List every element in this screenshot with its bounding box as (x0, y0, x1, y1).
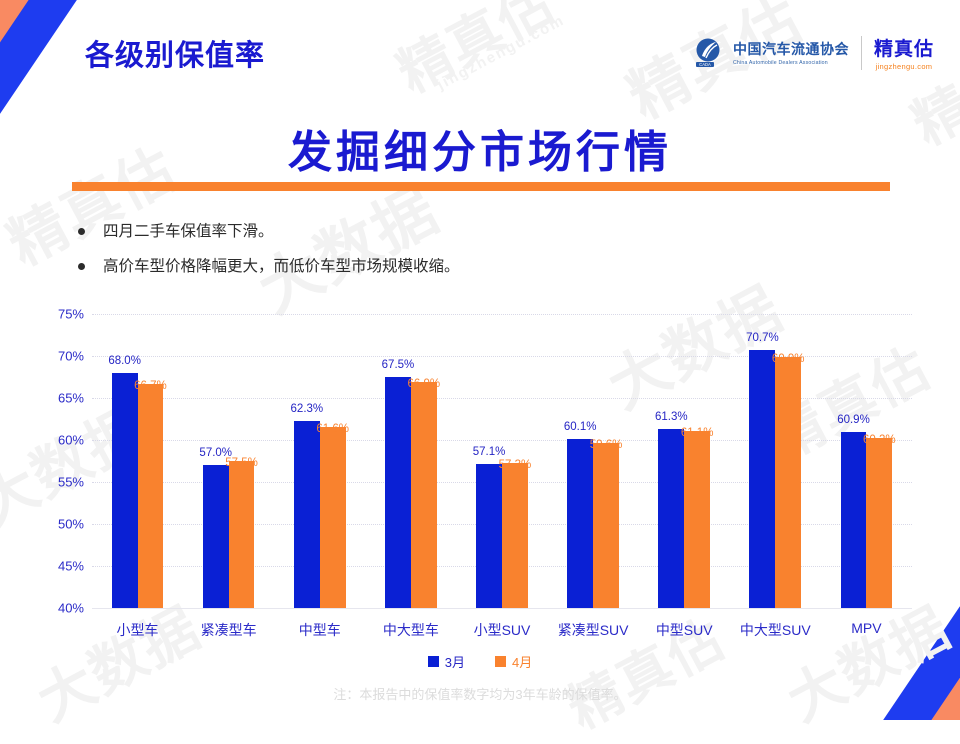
watermark: 精真估 (381, 0, 566, 108)
y-axis-tick-label: 60% (58, 433, 84, 448)
legend-item-4yue[interactable]: 4月 (495, 652, 532, 671)
bar-4月[interactable] (411, 382, 437, 608)
logo-area: CADA 中国汽车流通协会 China Automobile Dealers A… (693, 34, 934, 71)
x-axis-tick-label: 紧凑型SUV (548, 620, 639, 640)
bar-group: 61.3%61.1%中型SUV (639, 314, 730, 608)
bar-4月[interactable] (320, 427, 346, 608)
watermark: jingzhengu.com (434, 12, 568, 94)
bar-value-label: 57.3% (499, 459, 532, 471)
y-axis-tick-label: 55% (58, 475, 84, 490)
title-divider (72, 182, 890, 191)
bar-value-label: 61.3% (655, 411, 688, 423)
section-title: 发掘细分市场行情 (0, 116, 960, 180)
bar-3月[interactable] (385, 377, 411, 608)
bar-group: 60.9%60.2%MPV (821, 314, 912, 608)
legend-label: 3月 (445, 652, 465, 671)
x-axis-tick-label: 小型SUV (456, 620, 547, 640)
bar-value-label: 66.7% (134, 380, 167, 392)
y-axis-tick-label: 65% (58, 391, 84, 406)
bullet-list: 四月二手车保值率下滑。 高价车型价格降幅更大，而低价车型市场规模收缩。 (78, 220, 460, 291)
x-axis-tick-label: 中大型SUV (730, 620, 821, 640)
bar-value-label: 68.0% (108, 355, 141, 367)
legend-swatch-icon (495, 656, 506, 667)
bar-value-label: 61.6% (316, 423, 349, 435)
y-axis-tick-label: 50% (58, 517, 84, 532)
bar-value-label: 57.5% (225, 457, 258, 469)
chart-legend: 3月 4月 (0, 652, 960, 671)
bar-group: 60.1%59.6%紧凑型SUV (548, 314, 639, 608)
x-axis-tick-label: MPV (821, 620, 912, 636)
x-axis-tick-label: 中型车 (274, 620, 365, 640)
bar-4月[interactable] (138, 384, 164, 608)
list-item: 高价车型价格降幅更大，而低价车型市场规模收缩。 (78, 255, 460, 278)
bullet-dot-icon (78, 228, 85, 235)
bullet-dot-icon (78, 263, 85, 270)
bar-3月[interactable] (294, 421, 320, 608)
svg-text:CADA: CADA (699, 62, 711, 67)
bar-3月[interactable] (567, 439, 593, 608)
chart-plot-area: 40%45%50%55%60%65%70%75%68.0%66.7%小型车57.… (92, 314, 912, 608)
retention-rate-bar-chart: 40%45%50%55%60%65%70%75%68.0%66.7%小型车57.… (46, 306, 922, 646)
cada-logo: CADA 中国汽车流通协会 China Automobile Dealers A… (693, 37, 849, 69)
bar-value-label: 61.1% (681, 427, 714, 439)
y-axis-tick-label: 45% (58, 559, 84, 574)
page-title: 各级别保值率 (85, 32, 265, 74)
y-axis-tick-label: 75% (58, 307, 84, 322)
logo-divider (861, 36, 862, 70)
x-axis-tick-label: 中型SUV (639, 620, 730, 640)
cada-emblem-icon: CADA (693, 37, 727, 69)
bar-value-label: 66.9% (407, 378, 440, 390)
bar-value-label: 62.3% (291, 403, 324, 415)
bar-3月[interactable] (203, 465, 229, 608)
bar-value-label: 67.5% (382, 359, 415, 371)
bar-value-label: 69.9% (772, 353, 805, 365)
bullet-text: 高价车型价格降幅更大，而低价车型市场规模收缩。 (103, 255, 460, 278)
bar-4月[interactable] (593, 443, 619, 608)
cada-name-cn: 中国汽车流通协会 (733, 39, 849, 59)
bar-4月[interactable] (684, 431, 710, 608)
list-item: 四月二手车保值率下滑。 (78, 220, 460, 243)
bar-group: 57.1%57.3%小型SUV (456, 314, 547, 608)
bar-group: 57.0%57.5%紧凑型车 (183, 314, 274, 608)
jingzhengu-logo: 精真估 jingzhengu.com (874, 34, 934, 71)
chart-footnote: 注：本报告中的保值率数字均为3年车龄的保值率。 (0, 684, 960, 703)
x-axis-tick-label: 小型车 (92, 620, 183, 640)
bar-value-label: 59.6% (590, 439, 623, 451)
cada-name-en: China Automobile Dealers Association (733, 60, 849, 66)
bullet-text: 四月二手车保值率下滑。 (103, 220, 274, 243)
bar-value-label: 60.2% (863, 434, 896, 446)
bar-4月[interactable] (866, 438, 892, 608)
bar-4月[interactable] (502, 463, 528, 608)
bar-3月[interactable] (658, 429, 684, 608)
bar-group: 70.7%69.9%中大型SUV (730, 314, 821, 608)
legend-item-3yue[interactable]: 3月 (428, 652, 465, 671)
bar-value-label: 57.1% (473, 446, 506, 458)
jzg-name-en: jingzhengu.com (874, 62, 934, 71)
jzg-name-cn: 精真估 (874, 34, 934, 61)
gridline (92, 608, 912, 609)
bar-3月[interactable] (841, 432, 867, 608)
x-axis-tick-label: 紧凑型车 (183, 620, 274, 640)
bar-3月[interactable] (749, 350, 775, 608)
x-axis-tick-label: 中大型车 (365, 620, 456, 640)
bar-value-label: 70.7% (746, 332, 779, 344)
legend-label: 4月 (512, 652, 532, 671)
bar-4月[interactable] (775, 357, 801, 608)
bar-4月[interactable] (229, 461, 255, 608)
bar-3月[interactable] (112, 373, 138, 608)
bar-value-label: 60.1% (564, 421, 597, 433)
bar-value-label: 60.9% (837, 414, 870, 426)
y-axis-tick-label: 70% (58, 349, 84, 364)
bar-group: 62.3%61.6%中型车 (274, 314, 365, 608)
y-axis-tick-label: 40% (58, 601, 84, 616)
legend-swatch-icon (428, 656, 439, 667)
bar-group: 67.5%66.9%中大型车 (365, 314, 456, 608)
bar-group: 68.0%66.7%小型车 (92, 314, 183, 608)
bar-3月[interactable] (476, 464, 502, 608)
